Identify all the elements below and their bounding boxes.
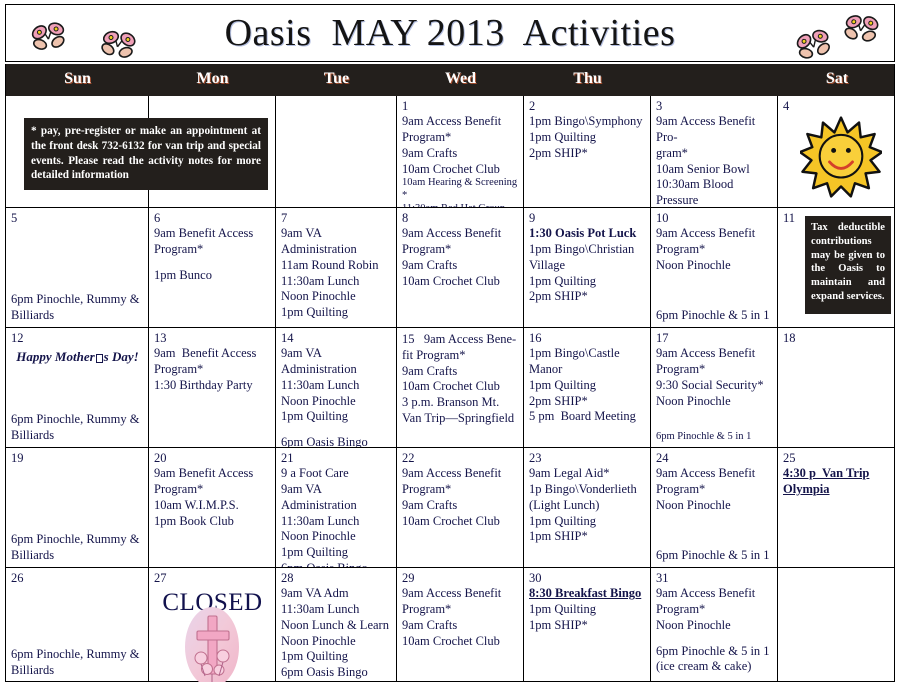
memorial-cross-flowers-icon xyxy=(181,606,243,682)
missing-glyph-icon xyxy=(96,354,103,363)
event-item: Noon Pinochle xyxy=(656,618,773,634)
event-item: 9am Legal Aid* xyxy=(529,466,646,482)
event-item: 9am Access Benefit Pro- xyxy=(656,114,773,146)
day-number: 18 xyxy=(783,331,892,345)
event-item: 9am Access Benefit xyxy=(402,114,519,130)
event-item: Noon Lunch & Learn xyxy=(281,618,392,634)
event-item: 1pm Quilting xyxy=(529,130,646,146)
day-events: 9am VA Administration11:30am LunchNoon P… xyxy=(281,346,392,447)
day-number: 4 xyxy=(783,99,892,113)
day-number: 31 xyxy=(656,571,773,585)
event-item: 1p Bingo\Vonderlieth xyxy=(529,482,646,498)
event-item: 9am Crafts xyxy=(402,258,519,274)
day-cell-13[interactable]: 139am Benefit AccessProgram*1:30 Birthda… xyxy=(149,328,276,447)
calendar-week-row: * pay, pre-register or make an appointme… xyxy=(6,96,894,208)
day-events: 9am Benefit AccessProgram*10am W.I.M.P.S… xyxy=(154,466,271,529)
day-cell-empty[interactable] xyxy=(149,96,276,207)
butterfly-icon xyxy=(839,8,885,48)
event-item: 9am Crafts xyxy=(402,146,519,162)
event-item: 1pm Quilting xyxy=(529,274,646,290)
event-item: 1pm Quilting xyxy=(529,602,646,618)
event-item: 11:30am Lunch xyxy=(281,514,392,530)
smiling-sun-icon xyxy=(800,116,882,198)
mothers-day-label: Happy Mothers Day! xyxy=(11,349,144,365)
event-item: 9am VA Administration xyxy=(281,226,392,258)
page-title: Oasis MAY 2013 Activities xyxy=(225,11,676,55)
event-item: 9am Access Benefit xyxy=(402,586,519,602)
event-item: (ice cream & cake) xyxy=(656,659,773,675)
day-cell-23[interactable]: 239am Legal Aid*1p Bingo\Vonderlieth(Lig… xyxy=(524,448,651,567)
day-number: 13 xyxy=(154,331,271,345)
event-item: Noon Pinochle xyxy=(656,394,773,410)
calendar-week-row: 266pm Pinochle, Rummy & Billiards27CLOSE… xyxy=(6,568,894,682)
event-item: 9am Access Benefit xyxy=(656,226,773,242)
day-cell-20[interactable]: 209am Benefit AccessProgram*10am W.I.M.P… xyxy=(149,448,276,567)
event-item: 1pm Book Club xyxy=(154,514,271,530)
butterfly-icon xyxy=(95,24,142,65)
day-cell-8[interactable]: 89am Access BenefitProgram*9am Crafts10a… xyxy=(397,208,524,327)
day-number: 14 xyxy=(281,331,392,345)
day-number: 9 xyxy=(529,211,646,225)
event-item: 4:30 p Van Trip xyxy=(783,466,892,482)
day-cell-1[interactable]: 19am Access BenefitProgram*9am Crafts10a… xyxy=(397,96,524,207)
day-number: 25 xyxy=(783,451,892,465)
day-number: 7 xyxy=(281,211,392,225)
calendar-week-row: 56pm Pinochle, Rummy & Billiards69am Ben… xyxy=(6,208,894,328)
event-item: Program* xyxy=(402,242,519,258)
event-item: 6pm Oasis Bingo xyxy=(281,435,392,447)
event-item: 6pm Oasis Bingo xyxy=(281,561,392,567)
event-item: 1pm Quilting xyxy=(281,409,392,425)
event-item: 1pm Bingo\Castle xyxy=(529,346,646,362)
event-item: gram* xyxy=(656,146,773,162)
day-cell-11[interactable]: 11Tax deductible contributions may be gi… xyxy=(778,208,896,327)
day-events: 9am Access BenefitProgram*9am Crafts10am… xyxy=(402,226,519,289)
event-item: 9am Access Benefit xyxy=(656,586,773,602)
day-cell-3[interactable]: 39am Access Benefit Pro-gram*10am Senior… xyxy=(651,96,778,207)
event-item: 10am Crochet Club xyxy=(402,634,519,650)
day-events: 1pm Bingo\CastleManor1pm Quilting2pm SHI… xyxy=(529,346,646,425)
day-cell-12[interactable]: 126pm Pinochle, Rummy & BilliardsHappy M… xyxy=(6,328,149,447)
day-cell-15[interactable]: 15 9am Access Bene-fit Program*9am Craft… xyxy=(397,328,524,447)
event-item: 10am Hearing & Screening * xyxy=(402,177,519,203)
day-number: 23 xyxy=(529,451,646,465)
event-item: 9am Crafts xyxy=(402,364,519,380)
event-item: 9am Benefit Access xyxy=(154,226,271,242)
day-events: 9am Access BenefitProgram*9:30 Social Se… xyxy=(656,346,773,409)
event-item: 1pm Bingo\Christian xyxy=(529,242,646,258)
event-item: Program* xyxy=(656,362,773,378)
day-events: 9am Access BenefitProgram*9am Crafts10am… xyxy=(402,586,519,649)
event-item: 11:30am Red Hat Group xyxy=(402,203,519,207)
event-item: Noon Pinochle xyxy=(656,258,773,274)
event-item: Program* xyxy=(154,242,271,258)
day-cell-29[interactable]: 299am Access BenefitProgram*9am Crafts10… xyxy=(397,568,524,682)
day-cell-27[interactable]: 27CLOSED xyxy=(149,568,276,682)
day-number: 24 xyxy=(656,451,773,465)
event-item: 1pm Bingo\Symphony xyxy=(529,114,646,130)
day-cell-4[interactable]: 4 xyxy=(778,96,896,207)
event-item: Program* xyxy=(154,362,271,378)
event-item: 1pm Quilting xyxy=(281,649,392,665)
day-cell-2[interactable]: 21pm Bingo\Symphony1pm Quilting2pm SHIP* xyxy=(524,96,651,207)
event-item-bottom: 6pm Pinochle, Rummy & Billiards xyxy=(11,646,144,678)
event-item: 9 a Foot Care xyxy=(281,466,392,482)
day-cell-17[interactable]: 179am Access BenefitProgram*9:30 Social … xyxy=(651,328,778,447)
day-cell-31[interactable]: 319am Access BenefitProgram*Noon Pinochl… xyxy=(651,568,778,682)
weekday-tue: Tue xyxy=(276,70,397,88)
day-cell-6[interactable]: 69am Benefit AccessProgram*1pm Bunco xyxy=(149,208,276,327)
event-item: 2pm SHIP* xyxy=(529,394,646,410)
day-events: 9am VA Administration11am Round Robin11:… xyxy=(281,226,392,327)
event-item: Program* xyxy=(402,602,519,618)
title-banner: Oasis MAY 2013 Activities xyxy=(5,4,895,62)
day-events: 9am Benefit AccessProgram*1pm Bunco xyxy=(154,226,271,283)
event-item: 1:30 Oasis Pot Luck xyxy=(529,226,646,242)
event-item: 11:30am Lunch xyxy=(281,274,392,290)
event-item: Noon Pinochle xyxy=(281,529,392,545)
event-item: 1pm SHIP* xyxy=(529,618,646,634)
event-item: 11:30am Lunch xyxy=(281,602,392,618)
weekday-header: Sun Mon Tue Wed Thu Sat xyxy=(5,64,895,96)
event-item-bottom: 6pm Pinochle & 5 in 1 xyxy=(656,430,773,443)
day-number: 1 xyxy=(402,99,519,113)
event-item: 9am VA Administration xyxy=(281,482,392,514)
day-number: 2 xyxy=(529,99,646,113)
day-cell-empty[interactable] xyxy=(276,96,397,207)
event-item: Program* xyxy=(402,130,519,146)
day-events: 1pm Bingo\Symphony1pm Quilting2pm SHIP* xyxy=(529,114,646,161)
event-item: Program* xyxy=(656,242,773,258)
calendar-page: Oasis MAY 2013 Activities Sun Mon Tue We… xyxy=(0,0,900,686)
event-item: Program* xyxy=(656,602,773,618)
day-cell-9[interactable]: 91:30 Oasis Pot Luck1pm Bingo\ChristianV… xyxy=(524,208,651,327)
day-cell-26[interactable]: 266pm Pinochle, Rummy & Billiards xyxy=(6,568,149,682)
day-events: 9am Access BenefitProgram*Noon Pinochle6… xyxy=(656,586,773,675)
event-item: 9am Access Benefit xyxy=(402,466,519,482)
event-item: Manor xyxy=(529,362,646,378)
day-events: 9am Access BenefitProgram*Noon Pinochle xyxy=(656,226,773,273)
day-number: 29 xyxy=(402,571,519,585)
event-item: 3 p.m. Branson Mt. xyxy=(402,395,519,411)
event-item: 9am Access Benefit xyxy=(402,226,519,242)
weekday-wed: Wed xyxy=(397,70,524,88)
event-item: 1pm Bunco xyxy=(154,268,271,284)
event-item-bottom: 6pm Pinochle, Rummy & Billiards xyxy=(11,291,144,323)
event-item: 9am VA Adm xyxy=(281,586,392,602)
event-item: 9am Access Benefit xyxy=(656,466,773,482)
day-cell-16[interactable]: 161pm Bingo\CastleManor1pm Quilting2pm S… xyxy=(524,328,651,447)
weekday-thu: Thu xyxy=(524,70,651,88)
event-item: fit Program* xyxy=(402,348,519,364)
day-number: 17 xyxy=(656,331,773,345)
weekday-mon: Mon xyxy=(149,70,276,88)
day-number: 3 xyxy=(656,99,773,113)
event-item: 1pm Quilting xyxy=(281,545,392,561)
event-item: 1pm Quilting xyxy=(281,305,392,321)
event-item: 9am Access Benefit xyxy=(656,346,773,362)
event-item: Noon Pinochle xyxy=(281,289,392,305)
day-number: 8 xyxy=(402,211,519,225)
event-item: 9am VA Administration xyxy=(281,346,392,378)
event-item-bottom: 6pm Pinochle & 5 in 1 xyxy=(656,307,773,323)
calendar-week-row: 126pm Pinochle, Rummy & BilliardsHappy M… xyxy=(6,328,894,448)
day-number: 19 xyxy=(11,451,144,465)
event-item: Program* xyxy=(656,482,773,498)
event-item: Noon Pinochle xyxy=(656,498,773,514)
event-item: 9am Benefit Access xyxy=(154,346,271,362)
event-item: Olympia xyxy=(783,482,892,498)
event-item: 1pm Quilting xyxy=(529,378,646,394)
day-events: 9am VA Adm11:30am LunchNoon Lunch & Lear… xyxy=(281,586,392,681)
event-item: 5 pm Board Meeting xyxy=(529,409,646,425)
event-item: 15 9am Access Bene- xyxy=(402,332,519,348)
event-item: 9am Crafts xyxy=(402,618,519,634)
day-cell-30[interactable]: 308:30 Breakfast Bingo1pm Quilting1pm SH… xyxy=(524,568,651,682)
event-item: 1:30 Birthday Party xyxy=(154,378,271,394)
day-number: 12 xyxy=(11,331,144,345)
day-cell-empty[interactable]: * pay, pre-register or make an appointme… xyxy=(6,96,149,207)
day-events: 9am Access BenefitProgram*9am Crafts10am… xyxy=(402,466,519,529)
day-cell-7[interactable]: 79am VA Administration11am Round Robin11… xyxy=(276,208,397,327)
calendar-grid: * pay, pre-register or make an appointme… xyxy=(5,96,895,682)
event-item: 11:30am Lunch xyxy=(281,378,392,394)
day-cell-14[interactable]: 149am VA Administration11:30am LunchNoon… xyxy=(276,328,397,447)
day-events: 9am Access Benefit Pro-gram*10am Senior … xyxy=(656,114,773,207)
event-item: 10am Crochet Club xyxy=(402,379,519,395)
day-cell-18[interactable]: 18 xyxy=(778,328,896,447)
event-item: Van Trip—Springfield xyxy=(402,411,519,427)
event-item: 9am Benefit Access xyxy=(154,466,271,482)
day-number: 10 xyxy=(656,211,773,225)
event-item: Program* xyxy=(154,482,271,498)
day-events: 9am Access BenefitProgram*Noon Pinochle xyxy=(656,466,773,513)
event-item: Noon Pinochle xyxy=(281,394,392,410)
mothers-day-text-pre: Happy Mother xyxy=(16,349,94,364)
day-events: 9 a Foot Care9am VA Administration11:30a… xyxy=(281,466,392,567)
event-item: Noon Pinochle xyxy=(281,634,392,650)
event-item: 1pm Quilting xyxy=(529,514,646,530)
event-item: 10am Crochet Club xyxy=(402,162,519,178)
day-number: 5 xyxy=(11,211,144,225)
event-item: 10am Crochet Club xyxy=(402,514,519,530)
day-cell-24[interactable]: 249am Access BenefitProgram*Noon Pinochl… xyxy=(651,448,778,567)
day-events: 1:30 Oasis Pot Luck1pm Bingo\ChristianVi… xyxy=(529,226,646,305)
day-cell-28[interactable]: 289am VA Adm11:30am LunchNoon Lunch & Le… xyxy=(276,568,397,682)
event-item: 6pm Pinochle & 5 in 1 xyxy=(656,644,773,660)
event-item: 9:30 Social Security* xyxy=(656,378,773,394)
event-item: 1pm SHIP* xyxy=(529,529,646,545)
note-box-tax: Tax deductible contributions may be give… xyxy=(805,216,891,314)
event-item: 10am Crochet Club xyxy=(402,274,519,290)
day-cell-21[interactable]: 219 a Foot Care9am VA Administration11:3… xyxy=(276,448,397,567)
event-item-bottom: 6pm Pinochle & 5 in 1 xyxy=(656,547,773,563)
event-item-bottom: 6pm Pinochle, Rummy & Billiards xyxy=(11,531,144,563)
day-cell-10[interactable]: 109am Access BenefitProgram*Noon Pinochl… xyxy=(651,208,778,327)
event-item: 10am Senior Bowl xyxy=(656,162,773,178)
event-item: Village xyxy=(529,258,646,274)
day-events: 4:30 p Van TripOlympia xyxy=(783,466,892,498)
day-number: 20 xyxy=(154,451,271,465)
day-cell-22[interactable]: 229am Access BenefitProgram*9am Crafts10… xyxy=(397,448,524,567)
day-number: 28 xyxy=(281,571,392,585)
event-item: (Light Lunch) xyxy=(529,498,646,514)
day-events: 9am Benefit AccessProgram*1:30 Birthday … xyxy=(154,346,271,393)
event-item: 6pm Oasis Bingo xyxy=(281,665,392,681)
event-item-bottom: 6pm Pinochle, Rummy & Billiards xyxy=(11,411,144,443)
day-cell-5[interactable]: 56pm Pinochle, Rummy & Billiards xyxy=(6,208,149,327)
event-item: 2pm SHIP* xyxy=(529,146,646,162)
calendar-week-row: 196pm Pinochle, Rummy & Billiards209am B… xyxy=(6,448,894,568)
event-item: 2pm SHIP* xyxy=(529,289,646,305)
day-cell-25[interactable]: 254:30 p Van TripOlympia xyxy=(778,448,896,567)
day-events: 9am Legal Aid*1p Bingo\Vonderlieth(Light… xyxy=(529,466,646,545)
event-item: 8:30 Breakfast Bingo xyxy=(529,586,646,602)
day-number: 6 xyxy=(154,211,271,225)
day-number: 27 xyxy=(154,571,271,585)
day-number: 22 xyxy=(402,451,519,465)
event-item: 11am Round Robin xyxy=(281,258,392,274)
event-item: 9am Crafts xyxy=(402,498,519,514)
day-events: 8:30 Breakfast Bingo1pm Quilting1pm SHIP… xyxy=(529,586,646,633)
day-number: 26 xyxy=(11,571,144,585)
mothers-day-text-post: s Day! xyxy=(104,349,139,364)
day-cell-19[interactable]: 196pm Pinochle, Rummy & Billiards xyxy=(6,448,149,567)
day-number: 16 xyxy=(529,331,646,345)
day-events: 9am Access BenefitProgram*9am Crafts10am… xyxy=(402,114,519,207)
weekday-sun: Sun xyxy=(6,70,149,88)
event-item: 10am W.I.M.P.S. xyxy=(154,498,271,514)
weekday-sat: Sat xyxy=(778,70,896,88)
event-item: Program* xyxy=(402,482,519,498)
event-item: 10:30am Blood Pressure xyxy=(656,177,773,207)
butterfly-icon xyxy=(26,16,72,56)
day-number: 30 xyxy=(529,571,646,585)
day-cell-empty[interactable] xyxy=(778,568,896,682)
day-events: 15 9am Access Bene-fit Program*9am Craft… xyxy=(402,332,519,427)
butterfly-icon xyxy=(790,22,839,65)
day-number: 21 xyxy=(281,451,392,465)
